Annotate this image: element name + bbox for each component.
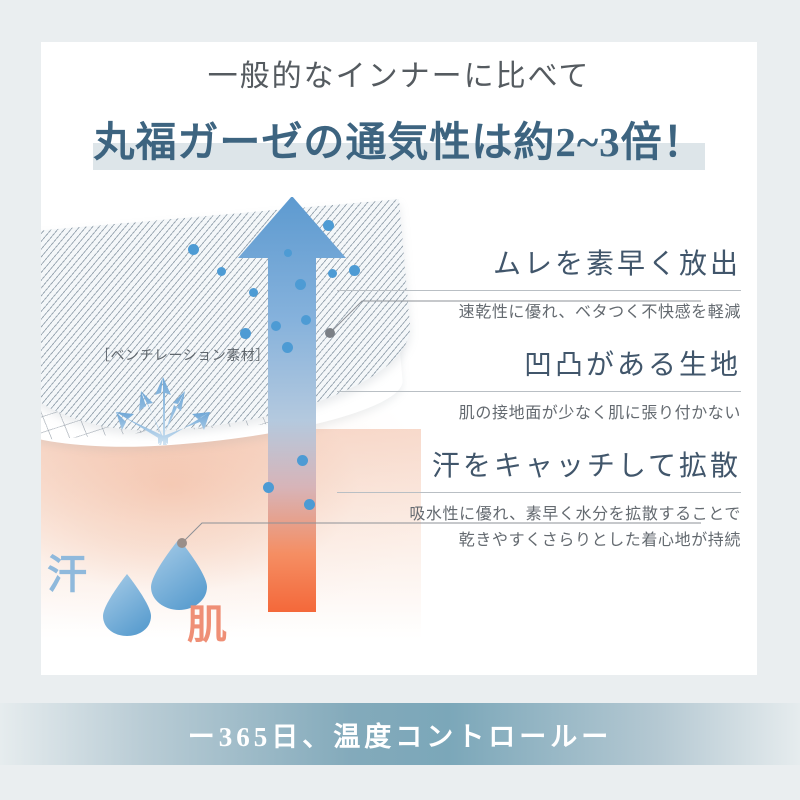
vapour-dot [301,315,311,325]
feature-item: 汗をキャッチして拡散 吸水性に優れ、素早く水分を拡散することで 乾きやすくさらり… [337,449,741,554]
page-title: 丸福ガーゼの通気性は約2~3倍！ [41,114,757,170]
vapour-dot [271,321,281,331]
vapour-dot [328,269,337,278]
feature-description: 肌の接地面が少なく肌に張り付かない [337,401,741,427]
vapour-dot [263,482,274,493]
feature-divider [337,492,741,493]
feature-item: 凹凸がある生地 肌の接地面が少なく肌に張り付かない [337,348,741,427]
feature-description-line2: 乾きやすくさらりとした着心地が持続 [337,528,741,554]
feature-title: 凹凸がある生地 [337,348,741,383]
content-card: 一般的なインナーに比べて 丸福ガーゼの通気性は約2~3倍！ [41,42,757,675]
skin-label: 肌 [187,605,227,645]
infographic-root: 一般的なインナーに比べて 丸福ガーゼの通気性は約2~3倍！ [0,0,800,800]
diffusion-arrows-icon [93,369,233,449]
feature-title: 汗をキャッチして拡散 [337,449,741,484]
feature-description-line1: 吸水性に優れ、素早く水分を拡散することで [337,502,741,528]
vapour-dot [304,499,315,510]
sweat-label: 汗 [47,555,87,595]
feature-item: ムレを素早く放出 速乾性に優れ、ベタつく不快感を軽減 [337,247,741,326]
page-subtitle: 一般的なインナーに比べて [41,62,757,92]
feature-divider [337,391,741,392]
page-title-wrap: 丸福ガーゼの通気性は約2~3倍！ [41,114,757,170]
vapour-dot [295,279,306,290]
water-droplet-icon [101,572,153,638]
vapour-dot [323,220,334,231]
airflow-arrow-icon [236,197,348,614]
vapour-dot [284,249,292,257]
vapour-dot [282,342,293,353]
feature-title: ムレを素早く放出 [337,247,741,282]
banner-text: ー365日、温度コントロールー [188,715,613,754]
feature-list: ムレを素早く放出 速乾性に優れ、ベタつく不快感を軽減 凹凸がある生地 肌の接地面… [337,247,741,554]
headline-block: 一般的なインナーに比べて 丸福ガーゼの通気性は約2~3倍！ [41,62,757,170]
vapour-dot [240,328,251,339]
vapour-dot [297,455,308,466]
feature-description: 速乾性に優れ、ベタつく不快感を軽減 [337,300,741,326]
vapour-dot [249,288,258,297]
bottom-banner: ー365日、温度コントロールー [0,703,800,765]
ventilation-material-label: ［ベンチレーション素材］ [96,345,270,365]
vapour-dot [217,267,226,276]
feature-divider [337,290,741,291]
vapour-dot [188,244,199,255]
